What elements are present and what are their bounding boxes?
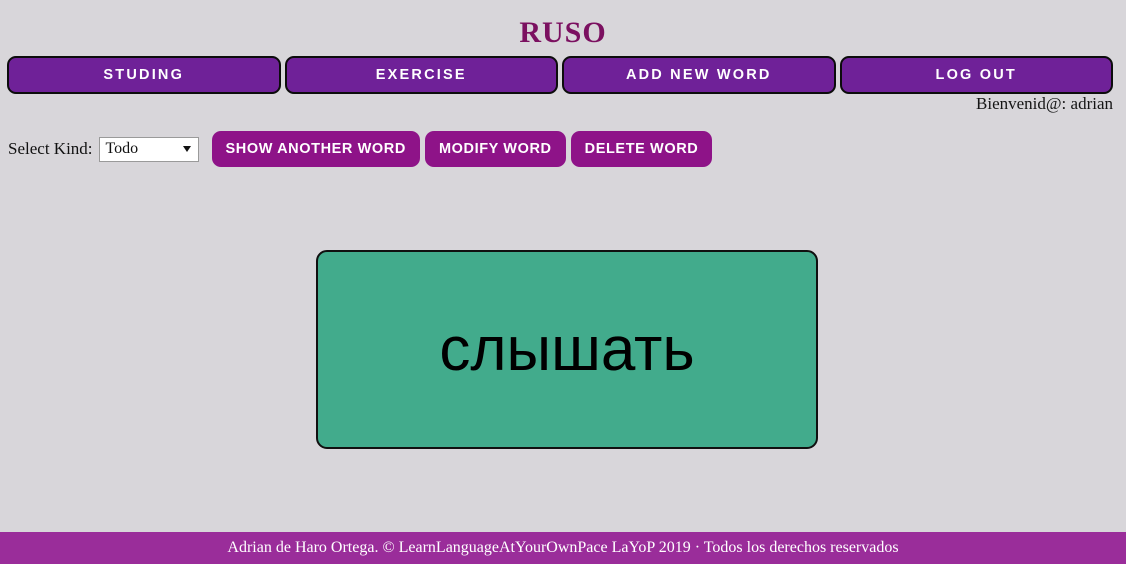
page-title: RUSO	[0, 0, 1126, 48]
nav-item-add-new-word[interactable]: ADD NEW WORD	[562, 56, 836, 94]
main-navigation: STUDING EXERCISE ADD NEW WORD LOG OUT	[7, 56, 1113, 94]
page-footer: Adrian de Haro Ortega. © LearnLanguageAt…	[0, 532, 1126, 564]
word-card-text: слышать	[439, 319, 694, 381]
kind-select[interactable]: Todo	[99, 137, 199, 162]
nav-item-studing[interactable]: STUDING	[7, 56, 281, 94]
delete-word-button[interactable]: DELETE WORD	[571, 131, 713, 167]
word-card[interactable]: слышать	[316, 250, 818, 449]
footer-copyright-text: Adrian de Haro Ortega. © LearnLanguageAt…	[227, 539, 898, 557]
modify-word-button[interactable]: MODIFY WORD	[425, 131, 566, 167]
chevron-down-icon	[183, 146, 191, 152]
show-another-word-button[interactable]: SHOW ANOTHER WORD	[212, 131, 420, 167]
select-kind-label: Select Kind:	[8, 139, 93, 159]
kind-select-value: Todo	[106, 140, 139, 158]
nav-item-exercise[interactable]: EXERCISE	[285, 56, 559, 94]
nav-item-log-out[interactable]: LOG OUT	[840, 56, 1114, 94]
welcome-message: Bienvenid@: adrian	[976, 94, 1113, 114]
controls-row: Select Kind: Todo SHOW ANOTHER WORD MODI…	[8, 131, 717, 167]
